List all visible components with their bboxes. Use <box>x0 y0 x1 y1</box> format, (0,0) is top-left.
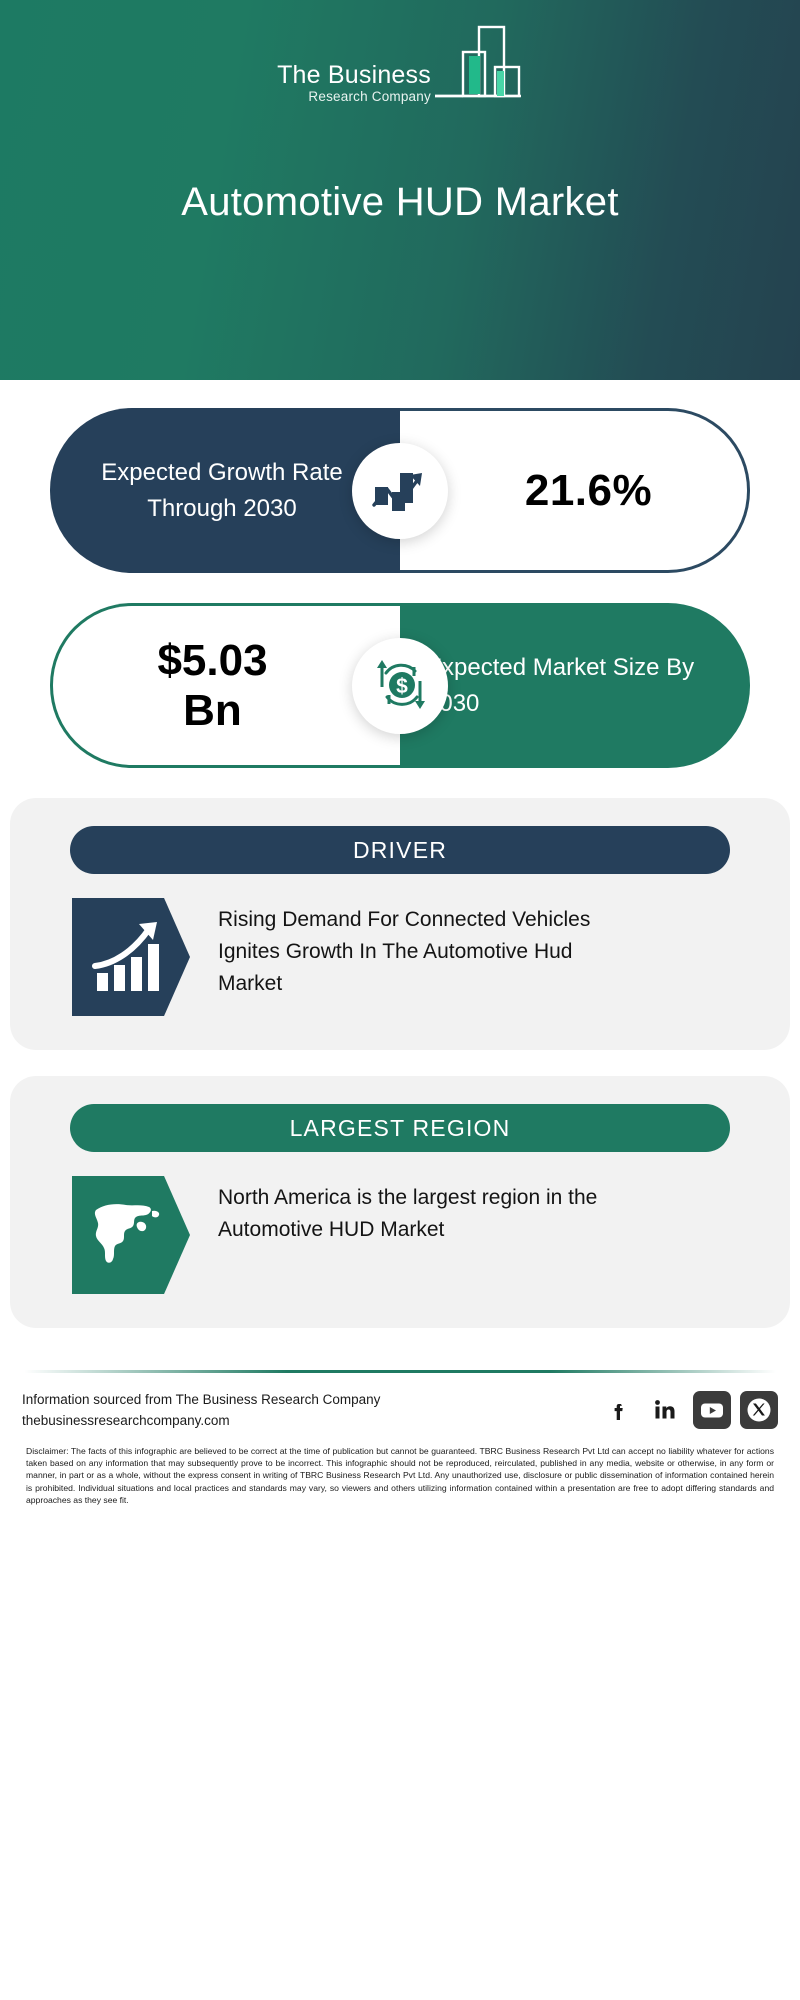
stat-card-value-side: 21.6% <box>400 408 750 573</box>
linkedin-icon[interactable] <box>646 1391 684 1429</box>
stat-value-line1: $5.03 <box>157 636 267 686</box>
source-attribution: Information sourced from The Business Re… <box>22 1389 380 1431</box>
hero-banner: The Business Research Company <box>0 0 800 380</box>
logo-bar-chart-icon <box>433 22 523 107</box>
facebook-icon[interactable] <box>599 1391 637 1429</box>
company-logo: The Business Research Company <box>0 22 800 111</box>
stat-label: Expected Market Size By 2030 <box>400 650 750 722</box>
largest-region-pill-label: LARGEST REGION <box>290 1115 511 1142</box>
logo-primary-text: The Business <box>277 62 431 89</box>
driver-text: Rising Demand For Connected Vehicles Ign… <box>218 898 618 1000</box>
stat-cards: Expected Growth Rate Through 2030 21.6% … <box>0 380 800 798</box>
footer: Information sourced from The Business Re… <box>0 1354 800 1506</box>
stat-card-growth-rate: Expected Growth Rate Through 2030 21.6% <box>50 408 750 573</box>
stat-card-label-side: Expected Growth Rate Through 2030 <box>50 408 400 573</box>
stat-value: $5.03 Bn <box>157 636 295 736</box>
largest-region-pill: LARGEST REGION <box>70 1104 730 1152</box>
page-title: Automotive HUD Market <box>0 180 800 225</box>
social-links <box>599 1391 778 1429</box>
largest-region-text: North America is the largest region in t… <box>218 1176 618 1246</box>
stat-value: 21.6% <box>495 466 652 516</box>
youtube-icon[interactable] <box>693 1391 731 1429</box>
growth-chart-arrow-icon <box>352 443 448 539</box>
dollar-cycle-icon: $ <box>352 638 448 734</box>
infographic-page: The Business Research Company <box>0 0 800 2000</box>
source-line-2[interactable]: thebusinessresearchcompany.com <box>22 1410 380 1431</box>
driver-pill-label: DRIVER <box>353 837 447 864</box>
driver-pill: DRIVER <box>70 826 730 874</box>
x-twitter-icon[interactable] <box>740 1391 778 1429</box>
stat-label: Expected Growth Rate Through 2030 <box>50 455 400 527</box>
disclaimer-text: Disclaimer: The facts of this infographi… <box>18 1435 782 1506</box>
stat-card-value-side: $5.03 Bn <box>50 603 400 768</box>
north-america-map-icon <box>72 1176 190 1294</box>
logo-secondary-text: Research Company <box>308 89 431 105</box>
stat-card-label-side: Expected Market Size By 2030 <box>400 603 750 768</box>
driver-panel: DRIVER Rising Demand For Connected Vehic… <box>10 798 790 1050</box>
bar-chart-growth-arrow-icon <box>72 898 190 1016</box>
stat-card-market-size: $5.03 Bn Expected Market Size By 2030 $ <box>50 603 750 768</box>
largest-region-panel: LARGEST REGION North America is the larg… <box>10 1076 790 1328</box>
stat-value-line2: Bn <box>157 686 267 736</box>
source-line-1: Information sourced from The Business Re… <box>22 1389 380 1410</box>
svg-text:$: $ <box>396 675 408 698</box>
